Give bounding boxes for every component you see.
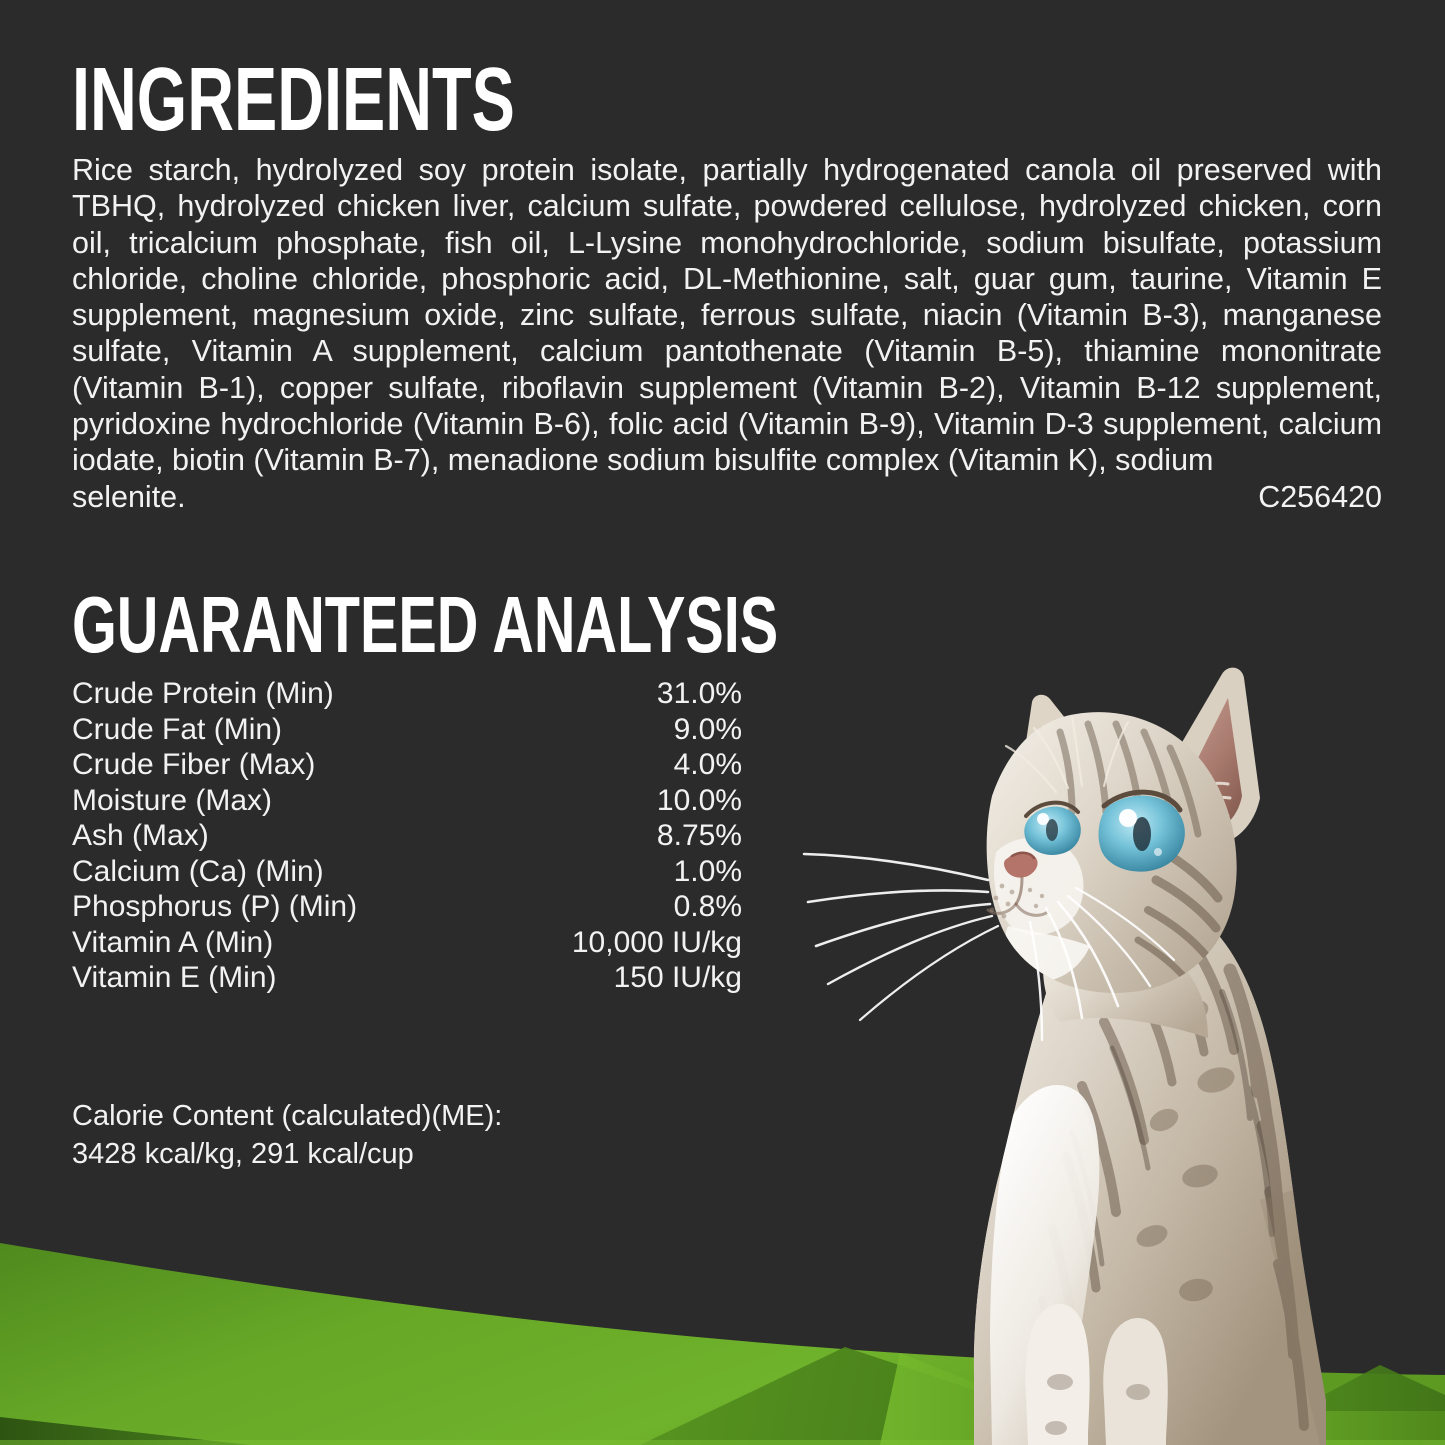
- ingredients-last-line: selenite. C256420: [72, 479, 1382, 515]
- cat-neck: [1043, 932, 1208, 1038]
- wave-bottom-strip: [0, 1440, 1445, 1445]
- ga-label: Calcium (Ca) (Min): [72, 854, 492, 890]
- table-row: Vitamin A (Min) 10,000 IU/kg: [72, 925, 742, 961]
- wave-wedge-bright: [880, 1353, 1130, 1445]
- green-wave-graphic: [0, 1235, 1445, 1445]
- table-row: Phosphorus (P) (Min) 0.8%: [72, 889, 742, 925]
- cat-mouth: [988, 904, 1016, 913]
- ga-label: Crude Fat (Min): [72, 712, 492, 748]
- ga-value: 31.0%: [492, 676, 742, 712]
- ingredients-text: Rice starch, hydrolyzed soy protein isol…: [72, 153, 1382, 477]
- ga-value: 150 IU/kg: [492, 960, 742, 996]
- pet-food-label-panel: INGREDIENTS Rice starch, hydrolyzed soy …: [0, 0, 1445, 1445]
- calorie-content-block: Calorie Content (calculated)(ME): 3428 k…: [72, 1097, 772, 1173]
- ingredients-body: Rice starch, hydrolyzed soy protein isol…: [72, 152, 1382, 515]
- ga-value: 9.0%: [492, 712, 742, 748]
- ga-label: Moisture (Max): [72, 783, 492, 819]
- ga-label: Ash (Max): [72, 818, 492, 854]
- ingredients-last-word: selenite.: [72, 479, 186, 515]
- wave-band-main: [0, 1243, 1445, 1445]
- ga-label: Vitamin A (Min): [72, 925, 492, 961]
- cat-head: [804, 712, 1237, 1040]
- ga-value: 10.0%: [492, 783, 742, 819]
- cat-whisker-pads: [990, 884, 1045, 919]
- cat-ears: [1016, 668, 1260, 848]
- ga-value: 8.75%: [492, 818, 742, 854]
- guaranteed-analysis-heading: GUARANTEED ANALYSIS: [72, 585, 778, 665]
- ga-label: Crude Protein (Min): [72, 676, 492, 712]
- wave-wedge-right-bright: [1250, 1411, 1445, 1445]
- wave-wedge-right: [1230, 1365, 1445, 1445]
- ga-label: Phosphorus (P) (Min): [72, 889, 492, 925]
- cat-whiskers: [804, 854, 1174, 1040]
- table-row: Crude Fiber (Max) 4.0%: [72, 747, 742, 783]
- cat-body: [974, 897, 1326, 1445]
- calorie-content-values: 3428 kcal/kg, 291 kcal/cup: [72, 1135, 772, 1173]
- ga-value: 4.0%: [492, 747, 742, 783]
- calorie-content-heading: Calorie Content (calculated)(ME):: [72, 1097, 772, 1135]
- ingredients-heading: INGREDIENTS: [72, 55, 515, 145]
- cat-eyes: [1024, 792, 1185, 871]
- table-row: Ash (Max) 8.75%: [72, 818, 742, 854]
- cat-nose: [1004, 852, 1038, 904]
- lot-code: C256420: [1258, 479, 1382, 515]
- wave-wedge-mid: [640, 1347, 1140, 1445]
- table-row: Crude Protein (Min) 31.0%: [72, 676, 742, 712]
- ga-value: 0.8%: [492, 889, 742, 925]
- table-row: Moisture (Max) 10.0%: [72, 783, 742, 819]
- ga-value: 1.0%: [492, 854, 742, 890]
- table-row: Vitamin E (Min) 150 IU/kg: [72, 960, 742, 996]
- wave-wedge-dark-left: [0, 1417, 250, 1445]
- ga-value: 10,000 IU/kg: [492, 925, 742, 961]
- guaranteed-analysis-table: Crude Protein (Min) 31.0% Crude Fat (Min…: [72, 676, 742, 996]
- ga-label: Vitamin E (Min): [72, 960, 492, 996]
- guaranteed-analysis-rows: Crude Protein (Min) 31.0% Crude Fat (Min…: [72, 676, 742, 996]
- cat-photo: [760, 640, 1445, 1445]
- table-row: Calcium (Ca) (Min) 1.0%: [72, 854, 742, 890]
- ga-label: Crude Fiber (Max): [72, 747, 492, 783]
- table-row: Crude Fat (Min) 9.0%: [72, 712, 742, 748]
